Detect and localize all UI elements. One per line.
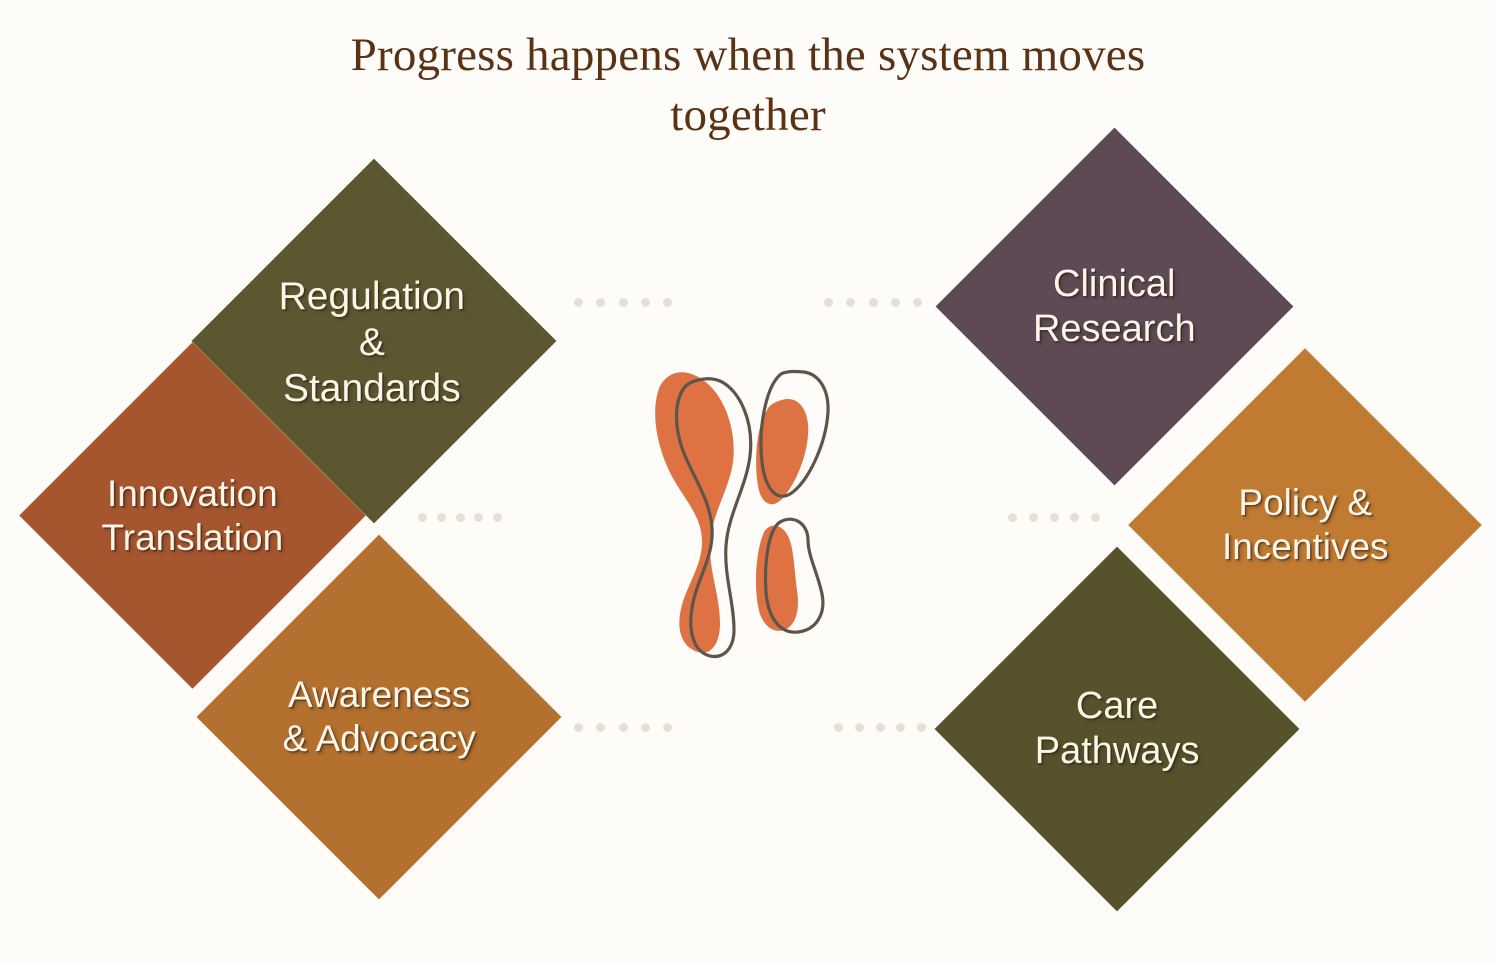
connector-dot bbox=[663, 298, 672, 307]
connector-dot bbox=[1008, 513, 1017, 522]
node-label-awareness-advocacy: Awareness & Advocacy bbox=[250, 673, 508, 760]
connector-dot bbox=[418, 513, 427, 522]
connector-dot bbox=[1029, 513, 1038, 522]
middle-left-connector bbox=[418, 513, 502, 522]
connector-dot bbox=[913, 298, 922, 307]
bottom-right-connector bbox=[834, 723, 926, 732]
connector-dot bbox=[596, 723, 605, 732]
connector-dot bbox=[846, 298, 855, 307]
chromosome-svg bbox=[648, 352, 872, 668]
node-label-care-pathways: Care Pathways bbox=[988, 684, 1246, 774]
connector-dot bbox=[1050, 513, 1059, 522]
connector-dot bbox=[456, 513, 465, 522]
connector-dot bbox=[834, 723, 843, 732]
middle-right-connector bbox=[1008, 513, 1100, 522]
diagram-canvas: Progress happens when the system moves t… bbox=[0, 0, 1496, 962]
connector-dot bbox=[891, 298, 900, 307]
connector-dot bbox=[574, 723, 583, 732]
connector-dot bbox=[596, 298, 605, 307]
connector-dot bbox=[869, 298, 878, 307]
node-label-clinical-research: Clinical Research bbox=[988, 262, 1241, 352]
connector-dot bbox=[855, 723, 864, 732]
node-label-regulation-standards: Regulation & Standards bbox=[243, 274, 501, 412]
connector-dot bbox=[641, 723, 650, 732]
connector-dot bbox=[437, 513, 446, 522]
top-right-connector bbox=[824, 298, 922, 307]
connector-dot bbox=[619, 298, 628, 307]
connector-dot bbox=[1070, 513, 1079, 522]
bottom-left-connector bbox=[574, 723, 672, 732]
chromosome-icon bbox=[648, 352, 872, 668]
connector-dot bbox=[896, 723, 905, 732]
connector-dot bbox=[474, 513, 483, 522]
connector-dot bbox=[1091, 513, 1100, 522]
connector-dot bbox=[641, 298, 650, 307]
connector-dot bbox=[619, 723, 628, 732]
connector-dot bbox=[824, 298, 833, 307]
node-label-policy-incentives: Policy & Incentives bbox=[1180, 481, 1430, 568]
chromatid-left-fill bbox=[655, 372, 734, 652]
connector-dot bbox=[917, 723, 926, 732]
connector-dot bbox=[493, 513, 502, 522]
node-label-innovation-translation: Innovation Translation bbox=[70, 472, 315, 559]
top-left-connector bbox=[574, 298, 672, 307]
connector-dot bbox=[663, 723, 672, 732]
page-title: Progress happens when the system moves t… bbox=[248, 26, 1248, 145]
chromatid-lower-right-fill bbox=[756, 526, 798, 631]
connector-dot bbox=[876, 723, 885, 732]
connector-dot bbox=[574, 298, 583, 307]
